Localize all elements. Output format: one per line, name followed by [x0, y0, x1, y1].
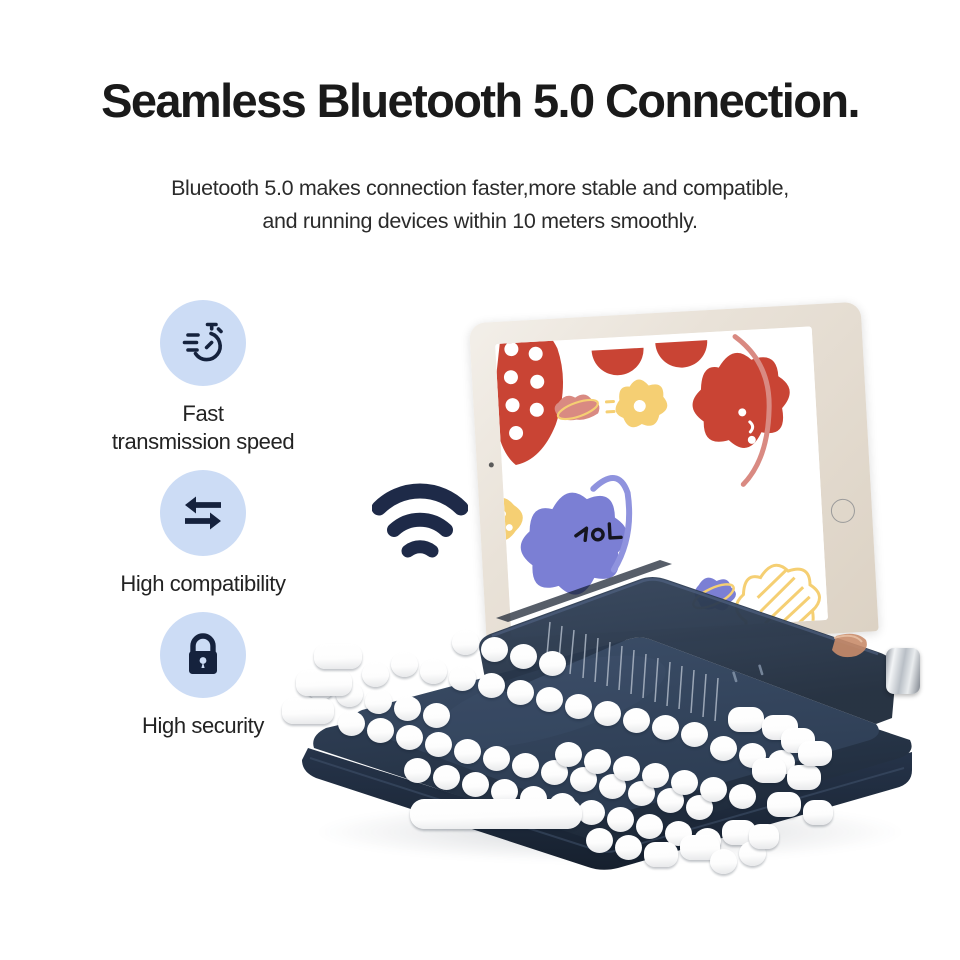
feature-icon-badge	[160, 612, 246, 698]
typebar-comb	[546, 622, 718, 721]
bidirectional-arrows-icon	[178, 492, 228, 534]
tablet-home-button	[830, 498, 855, 523]
feature-icon-badge	[160, 470, 246, 556]
padlock-icon	[181, 631, 225, 679]
feature-item-high-compatibility[interactable]: High compatibility	[78, 470, 328, 598]
tablet-bezel	[469, 302, 879, 653]
keyboard-device	[300, 552, 920, 882]
wallpaper-red-arcs	[591, 340, 708, 376]
feature-list: Fast transmission speed High compatibili…	[78, 300, 328, 755]
feature-label: High security	[78, 712, 328, 740]
tablet-wallpaper	[495, 326, 828, 637]
keyboard-body	[300, 552, 920, 882]
wallpaper-yellow-flower	[605, 378, 668, 429]
hinge-copper	[832, 634, 867, 657]
promo-page: Seamless Bluetooth 5.0 Connection. Bluet…	[0, 0, 960, 960]
feature-item-high-security[interactable]: High security	[78, 612, 328, 740]
wallpaper-pink-orbit-flower	[554, 394, 601, 424]
page-subtitle: Bluetooth 5.0 makes connection faster,mo…	[0, 172, 960, 237]
volume-knob[interactable]	[886, 648, 920, 694]
tablet-camera	[489, 462, 494, 467]
tablet-screen	[495, 326, 828, 637]
wallpaper-blue-orbit-flower	[689, 576, 738, 613]
wifi-signal-icon	[372, 482, 468, 560]
feature-label: High compatibility	[78, 570, 328, 598]
tablet-stand-slot	[496, 560, 672, 622]
feature-label: Fast transmission speed	[78, 400, 328, 456]
tablet-device	[469, 302, 879, 653]
wallpaper-yellow-side-flower	[495, 497, 524, 542]
wallpaper-hatched-yellow-flower	[734, 563, 822, 638]
wallpaper-blue-flower	[517, 477, 634, 597]
keyboard-indicator-leds	[732, 664, 764, 682]
subtitle-line-2: and running devices within 10 meters smo…	[0, 205, 960, 238]
feature-icon-badge	[160, 300, 246, 386]
stopwatch-speed-icon	[178, 318, 228, 368]
wallpaper-red-flower	[689, 334, 795, 487]
subtitle-line-1: Bluetooth 5.0 makes connection faster,mo…	[0, 172, 960, 205]
keyboard-shadow	[320, 802, 900, 862]
page-title: Seamless Bluetooth 5.0 Connection.	[0, 76, 960, 126]
feature-item-fast-transmission-speed[interactable]: Fast transmission speed	[78, 300, 328, 456]
wallpaper-red-dotted-strip	[495, 326, 568, 466]
